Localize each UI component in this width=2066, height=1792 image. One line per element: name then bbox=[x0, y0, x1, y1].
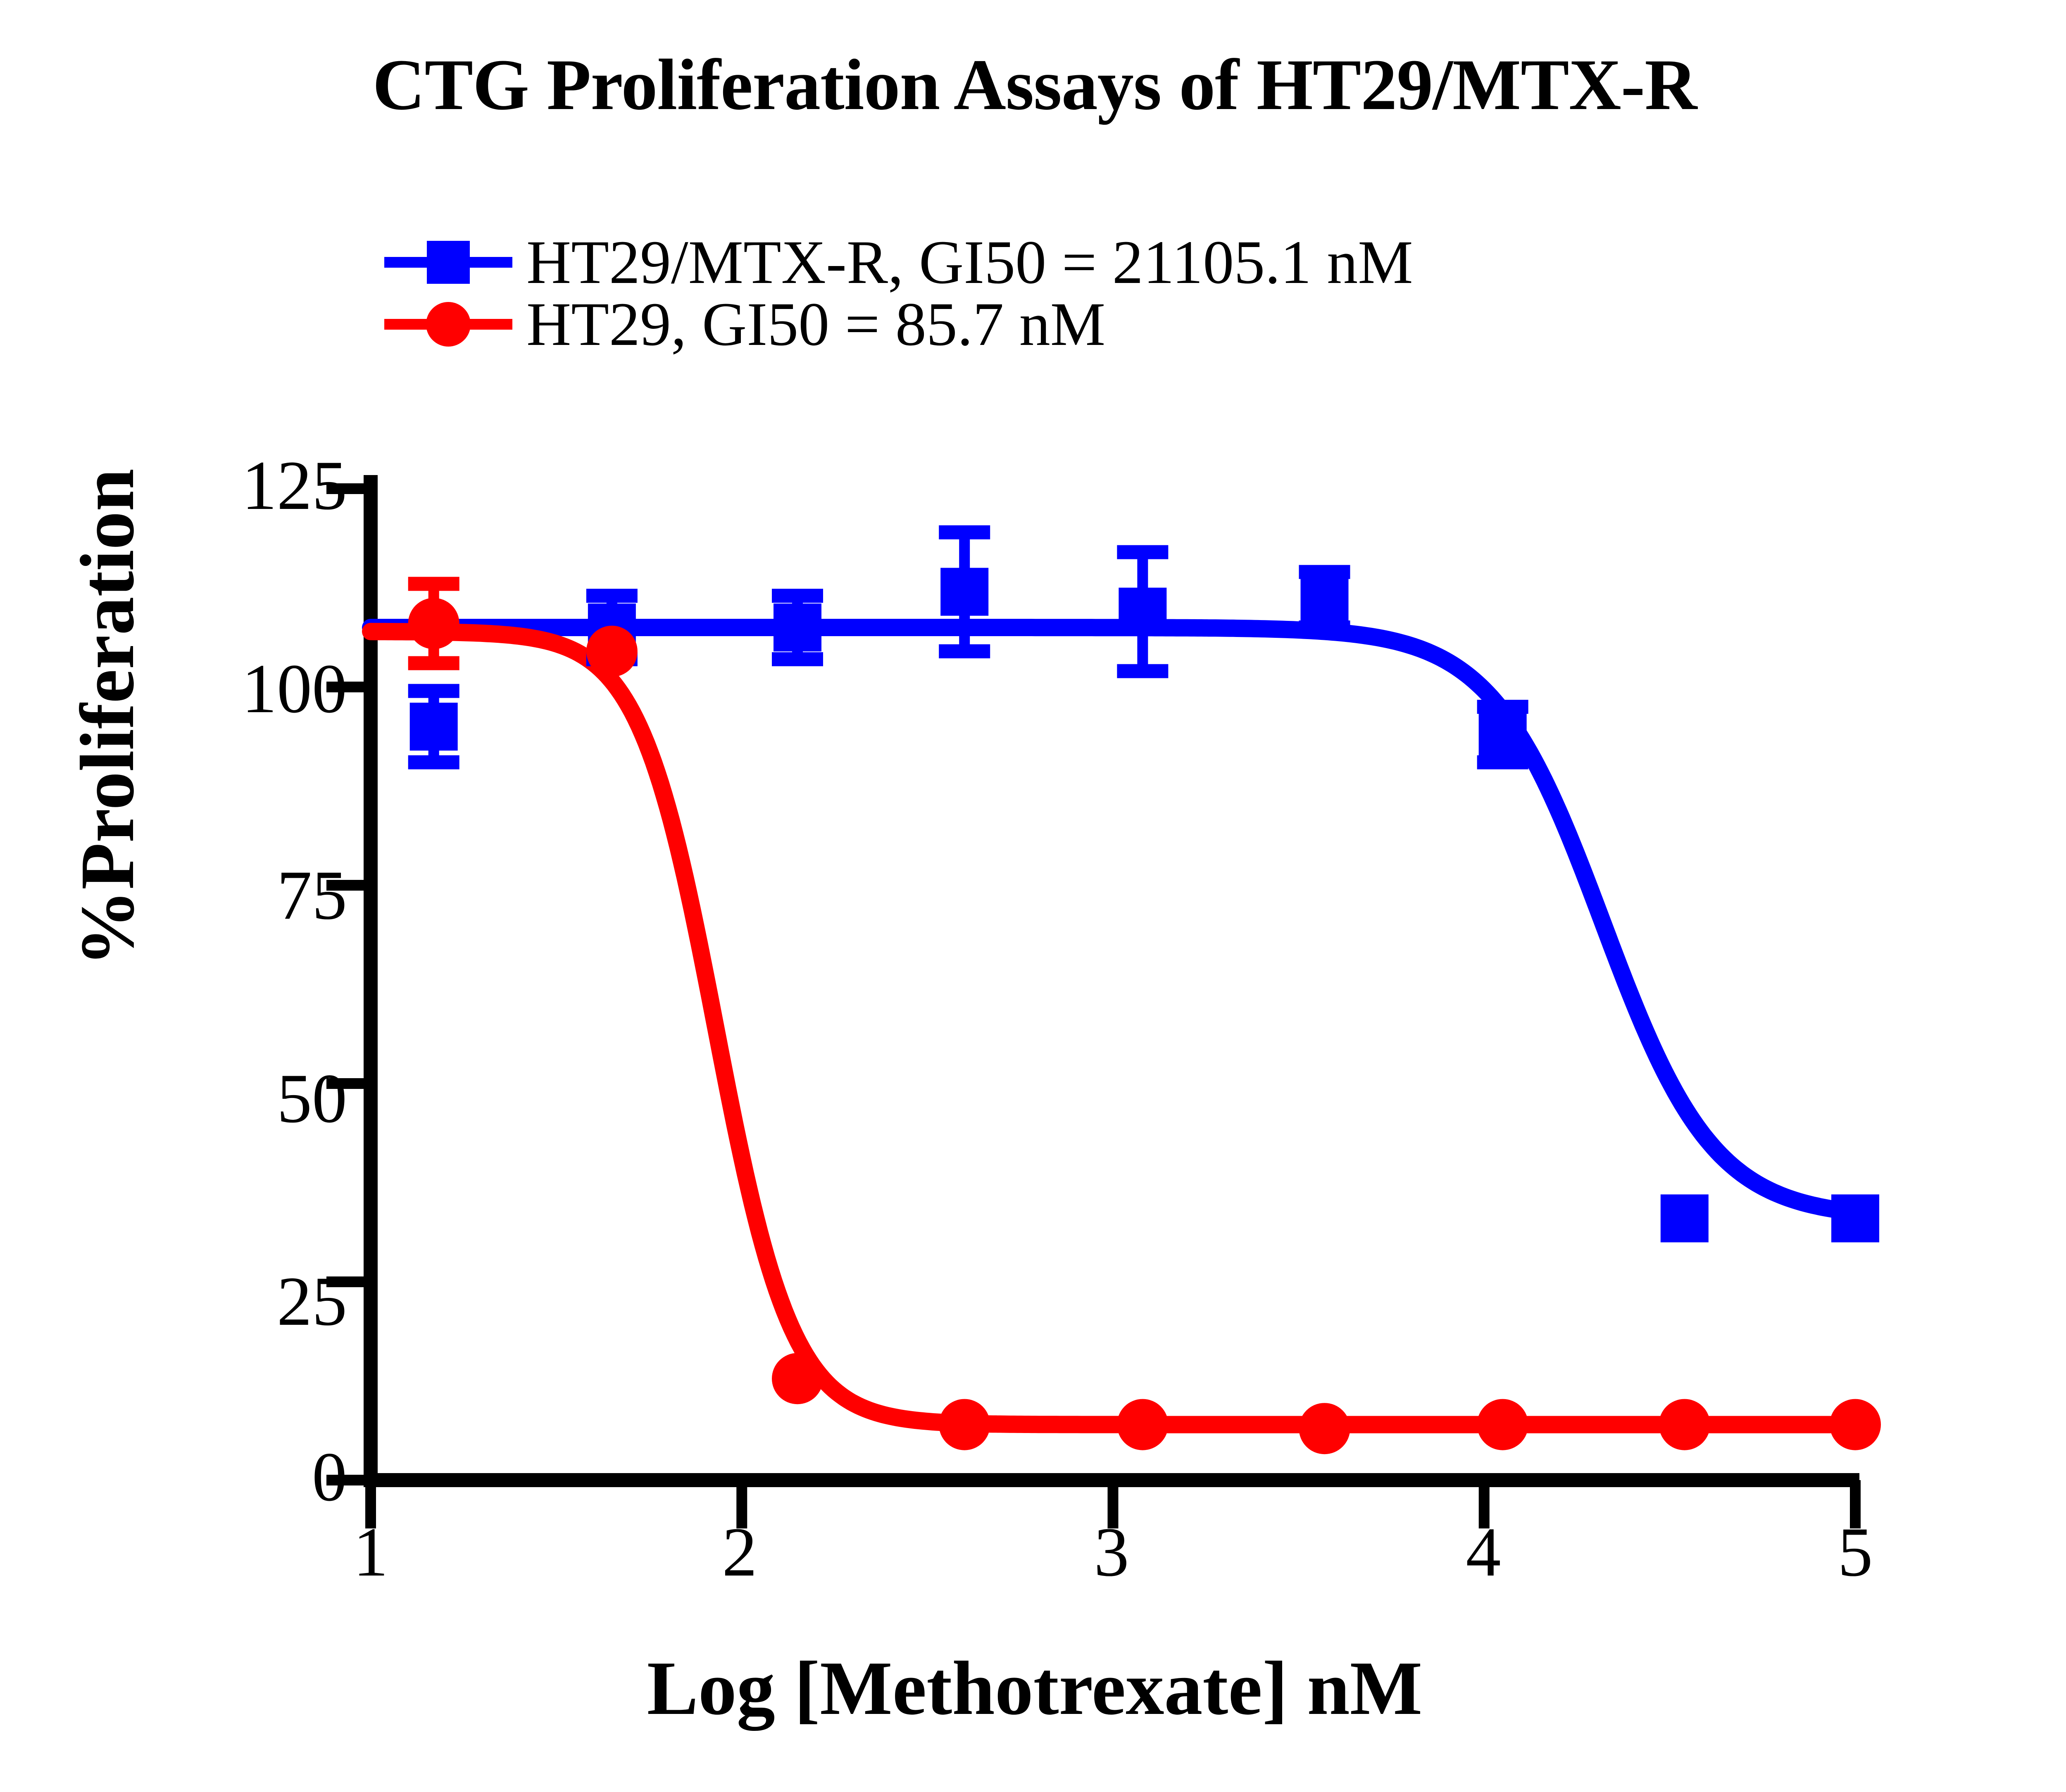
data-point-marker-circle bbox=[1477, 1399, 1528, 1450]
data-series-group bbox=[371, 532, 1881, 1455]
data-point-marker-circle bbox=[1830, 1399, 1881, 1450]
data-point-marker-circle bbox=[772, 1353, 823, 1404]
data-point-marker-circle bbox=[1299, 1403, 1350, 1454]
data-point-marker-square bbox=[1831, 1194, 1879, 1242]
data-point-marker-square bbox=[410, 703, 458, 751]
data-point-marker-square bbox=[1301, 576, 1349, 624]
data-point-marker-circle bbox=[1117, 1399, 1168, 1450]
fit-curve-ht29-mtx-r-fit bbox=[371, 627, 1855, 1212]
data-point-marker-square bbox=[1479, 711, 1527, 758]
data-point-marker-square bbox=[774, 604, 821, 651]
data-point-marker-circle bbox=[586, 626, 638, 677]
chart-figure: CTG Proliferation Assays of HT29/MTX-R H… bbox=[0, 0, 2066, 1792]
plot-area bbox=[0, 0, 2066, 1792]
data-point-marker-square bbox=[940, 568, 988, 616]
data-point-marker-circle bbox=[1659, 1399, 1710, 1450]
data-point-marker-circle bbox=[939, 1399, 990, 1450]
data-point-marker-square bbox=[1661, 1194, 1709, 1242]
fit-curve-ht29-fit bbox=[371, 632, 1855, 1425]
data-point-marker-circle bbox=[408, 598, 459, 649]
data-point-marker-square bbox=[1119, 588, 1166, 636]
